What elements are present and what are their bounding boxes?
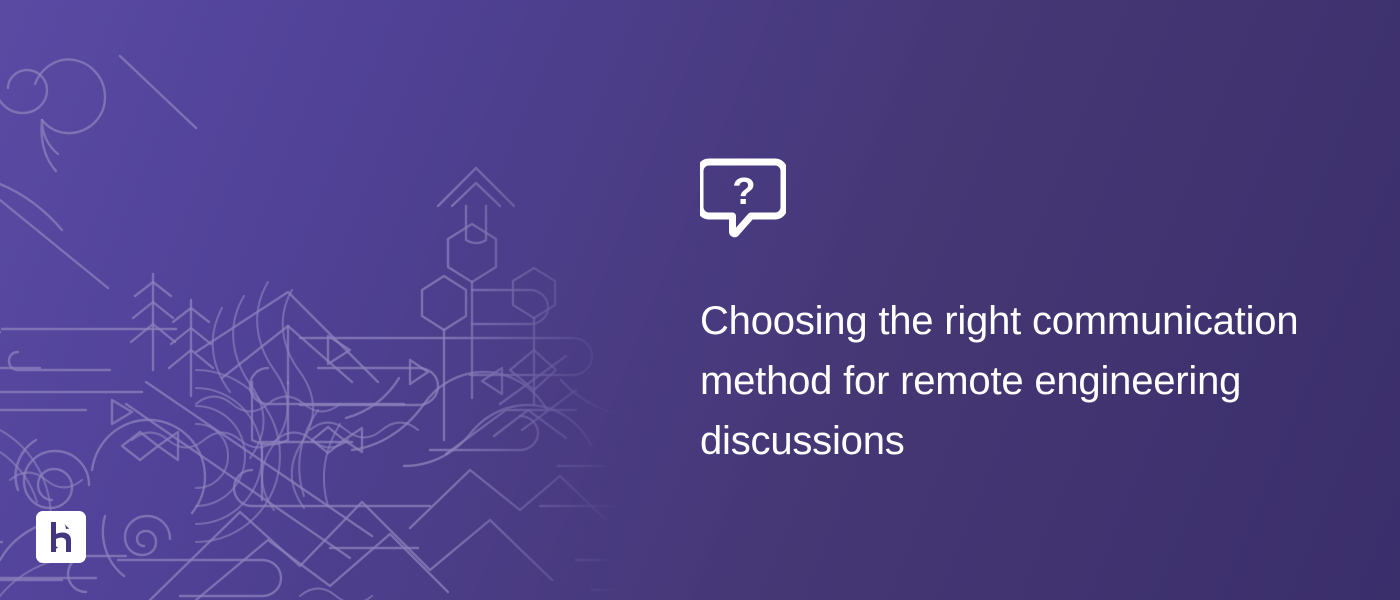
diagonal-rails: [120, 56, 418, 558]
cloud-swirl-left-middle: [0, 420, 205, 596]
content-column: ? Choosing the right communication metho…: [700, 0, 1340, 600]
hexagon-flowers: [410, 224, 555, 440]
speech-bubble-question-icon: ?: [700, 152, 786, 240]
stack-lines-upper-left: [0, 329, 176, 410]
concentric-arcs: [196, 370, 280, 542]
mountain-ridgelines: [346, 356, 617, 466]
arrow-up-marker: [196, 292, 378, 445]
arrow-up-marker-2: [438, 168, 514, 243]
circuit-paths: [0, 290, 618, 596]
wave-lines: [10, 397, 418, 600]
heroku-logo: [36, 511, 86, 563]
mountain-range-lower: [150, 470, 606, 600]
heroku-glyph-icon: [48, 521, 74, 553]
page-title: Choosing the right communication method …: [700, 291, 1320, 471]
small-brackets: [0, 332, 618, 592]
pine-trees: [131, 274, 213, 396]
banner-card: ? Choosing the right communication metho…: [0, 0, 1400, 600]
cloud-swirl-top-left: [0, 60, 108, 288]
decorative-line-art: [0, 0, 620, 600]
question-mark-glyph: ?: [732, 171, 755, 213]
fish-motifs: [112, 336, 362, 460]
